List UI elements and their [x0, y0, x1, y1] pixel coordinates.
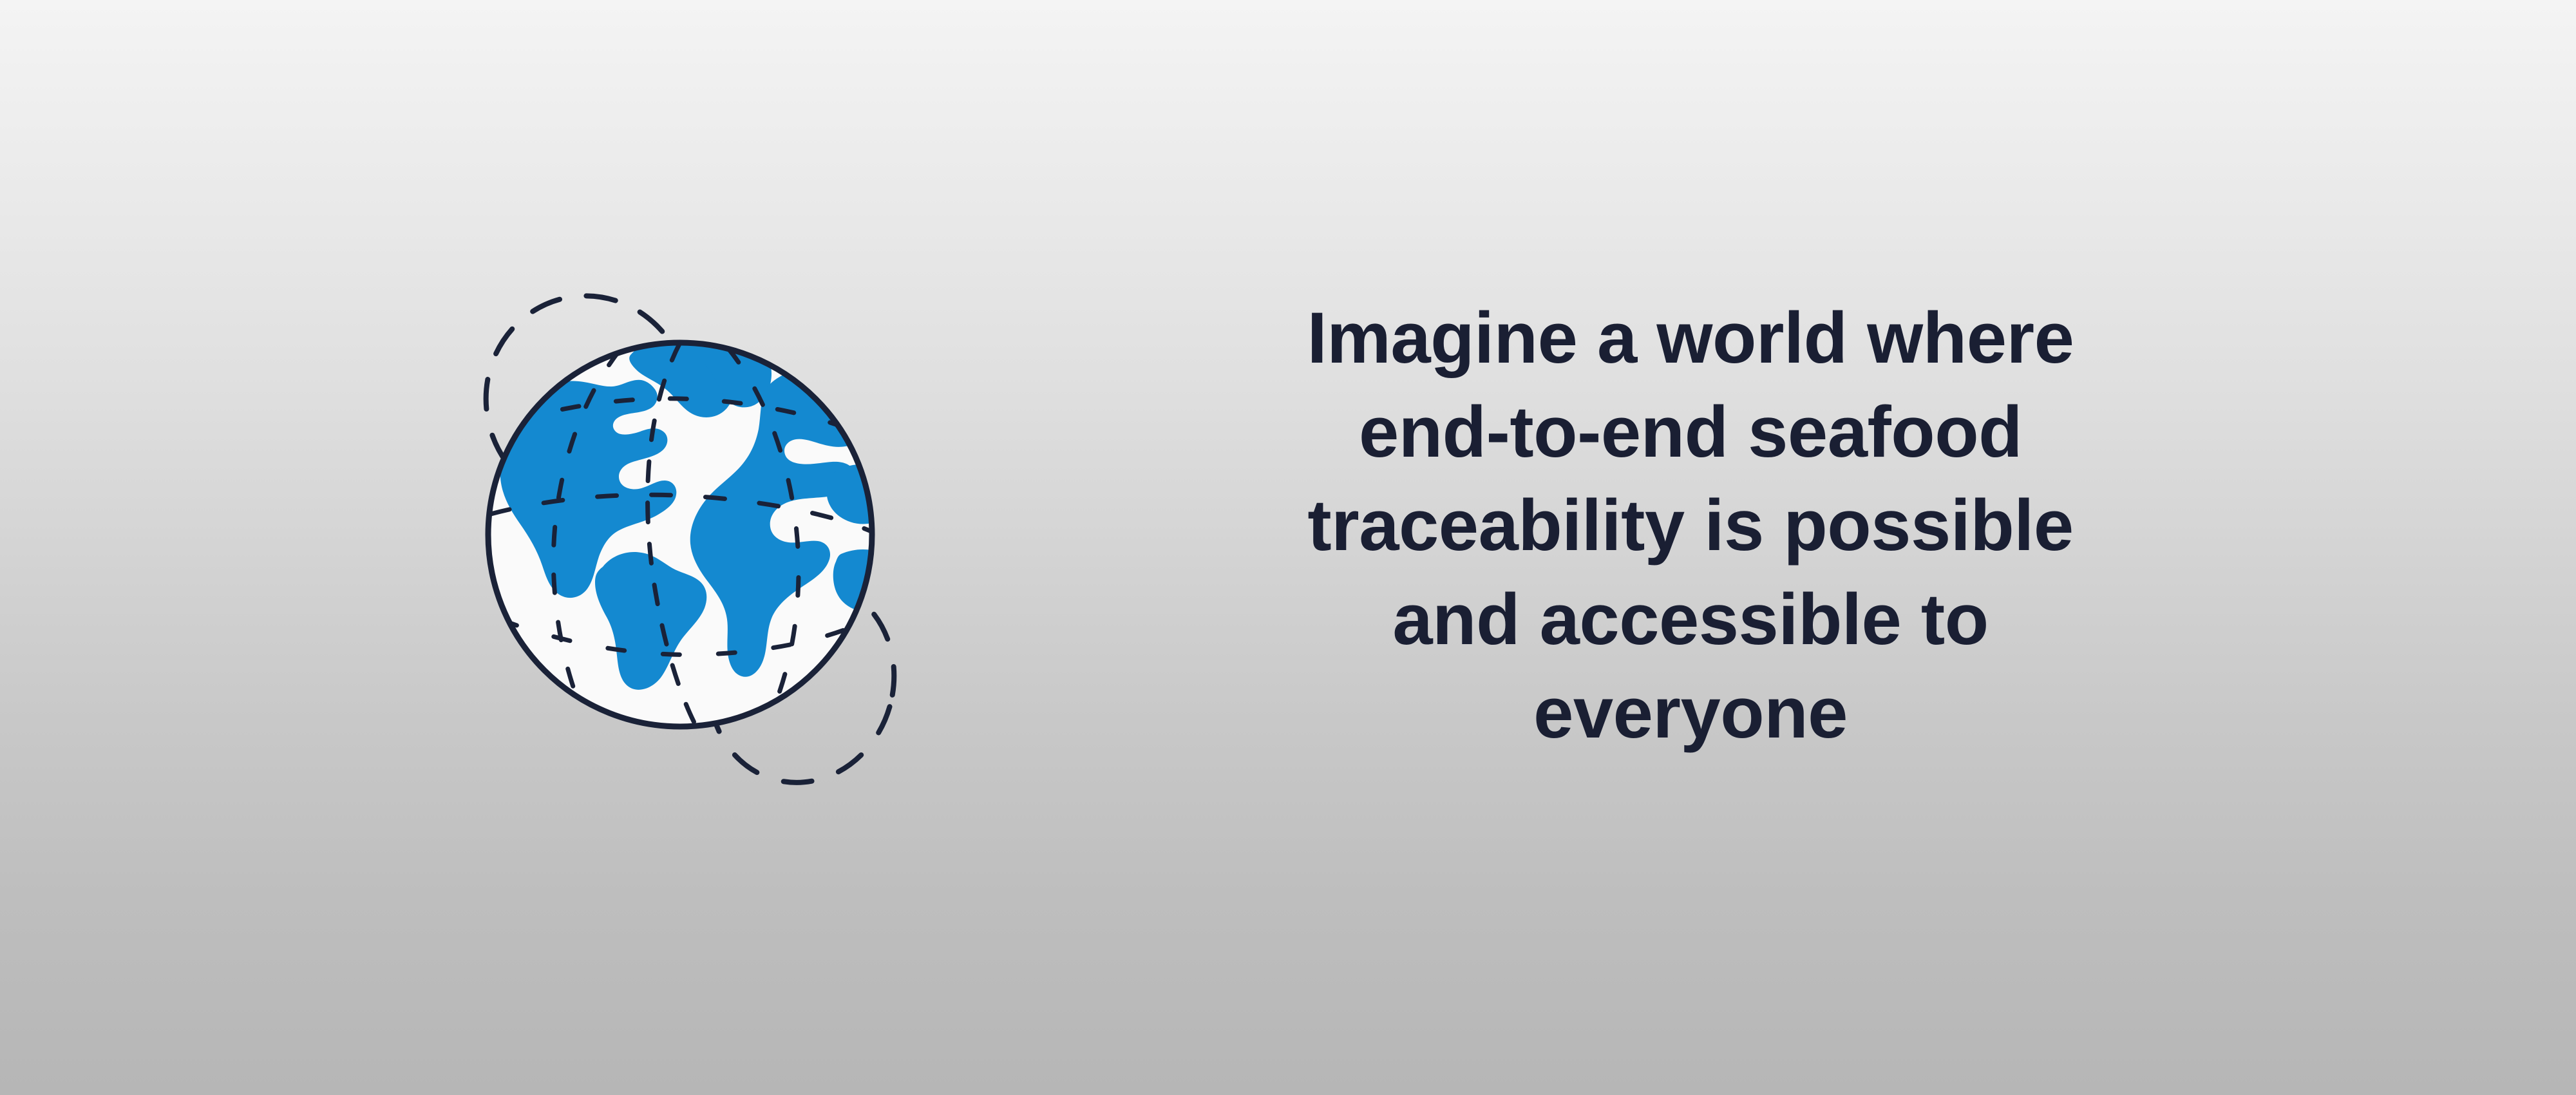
headline-block: Imagine a world where end-to-end seafood…: [1198, 291, 2183, 760]
hero-banner: Imagine a world where end-to-end seafood…: [0, 0, 2576, 1095]
globe-illustration: [451, 258, 940, 824]
globe-svg: [451, 258, 940, 824]
page-title: Imagine a world where end-to-end seafood…: [1198, 291, 2183, 760]
